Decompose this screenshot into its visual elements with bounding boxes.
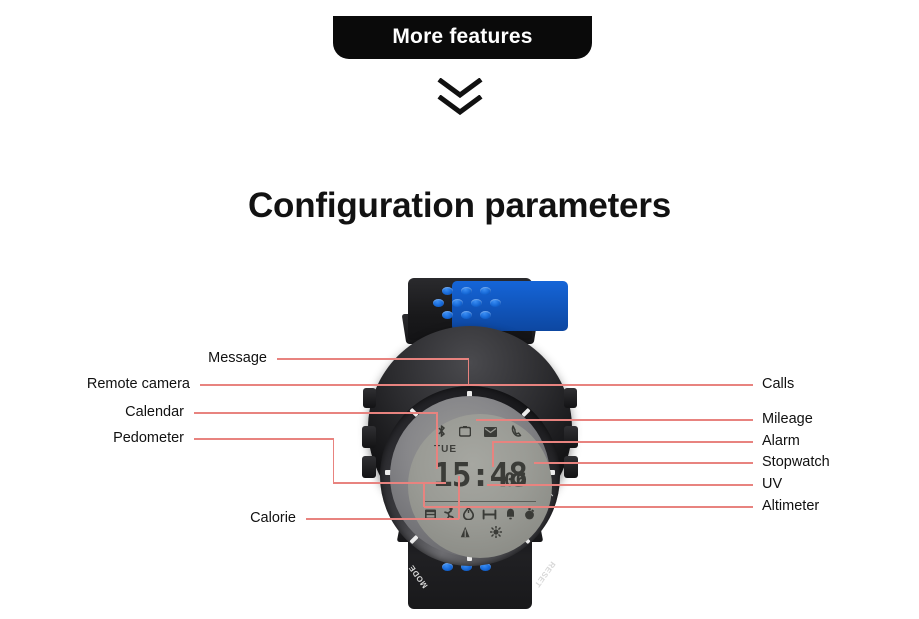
label-altimeter: Altimeter	[762, 499, 819, 514]
lcd-seconds: 06	[504, 471, 527, 490]
label-calendar: Calendar	[0, 405, 184, 420]
watch-case: LIGHT START MODE RESET	[368, 326, 572, 530]
label-remote-camera: Remote camera	[0, 377, 190, 392]
connector-calorie	[306, 518, 459, 520]
light-button[interactable]	[362, 426, 376, 448]
label-stopwatch: Stopwatch	[762, 455, 830, 470]
connector-calendar	[194, 412, 437, 414]
start-button[interactable]	[564, 426, 578, 448]
connector-alarm	[493, 441, 753, 443]
connector-calls	[368, 384, 753, 386]
label-uv: UV	[762, 477, 782, 492]
lcd-status-icon-row	[438, 425, 522, 441]
bluetooth-icon	[438, 425, 445, 441]
label-message: Message	[0, 351, 267, 366]
lcd-sensor-icon-row	[460, 526, 502, 542]
stopwatch-icon	[524, 508, 535, 524]
connector-uv	[487, 484, 753, 486]
lcd-function-icon-row	[425, 507, 535, 524]
connector-message	[277, 358, 469, 360]
label-calls: Calls	[762, 377, 794, 392]
uv-sun-icon	[490, 526, 502, 542]
double-chevron-down-icon	[437, 78, 483, 118]
label-alarm: Alarm	[762, 434, 800, 449]
reset-button[interactable]	[564, 456, 578, 478]
label-calorie: Calorie	[0, 511, 296, 526]
connector-altimeter	[424, 506, 753, 508]
connector-calorie-rise	[458, 476, 460, 519]
connector-mileage	[476, 419, 753, 421]
alarm-bell-icon	[505, 508, 516, 524]
connector-pedometer-run	[333, 482, 446, 484]
page-title: Configuration parameters	[0, 186, 919, 226]
connector-pedometer	[194, 438, 334, 440]
label-mileage: Mileage	[762, 412, 813, 427]
banner-label: More features	[392, 26, 532, 49]
label-pedometer: Pedometer	[0, 431, 184, 446]
calendar-icon	[425, 508, 436, 524]
lcd-divider	[424, 501, 536, 502]
pedometer-icon	[444, 507, 455, 524]
watch-lcd-display: TUE 15:48 06	[408, 414, 552, 558]
phone-icon	[511, 425, 522, 441]
calorie-flame-icon	[463, 507, 474, 524]
connector-alarm-rise	[492, 441, 494, 467]
connector-pedometer-drop	[333, 438, 335, 483]
case-side-notch	[564, 388, 577, 408]
reset-button-label: RESET	[532, 560, 557, 589]
altimeter-icon	[460, 526, 471, 542]
connector-altimeter-rise	[423, 483, 425, 507]
case-side-notch	[363, 388, 376, 408]
mileage-icon	[482, 508, 497, 524]
message-icon	[484, 425, 497, 441]
connector-stopwatch	[534, 462, 753, 464]
page-root: More features Configuration parameters	[0, 0, 919, 619]
smartwatch-illustration: LIGHT START MODE RESET	[368, 278, 572, 610]
camera-icon	[459, 425, 471, 441]
mode-button[interactable]	[362, 456, 376, 478]
connector-message-drop	[468, 358, 470, 384]
connector-calendar-drop	[436, 412, 438, 469]
more-features-banner: More features	[333, 16, 592, 59]
